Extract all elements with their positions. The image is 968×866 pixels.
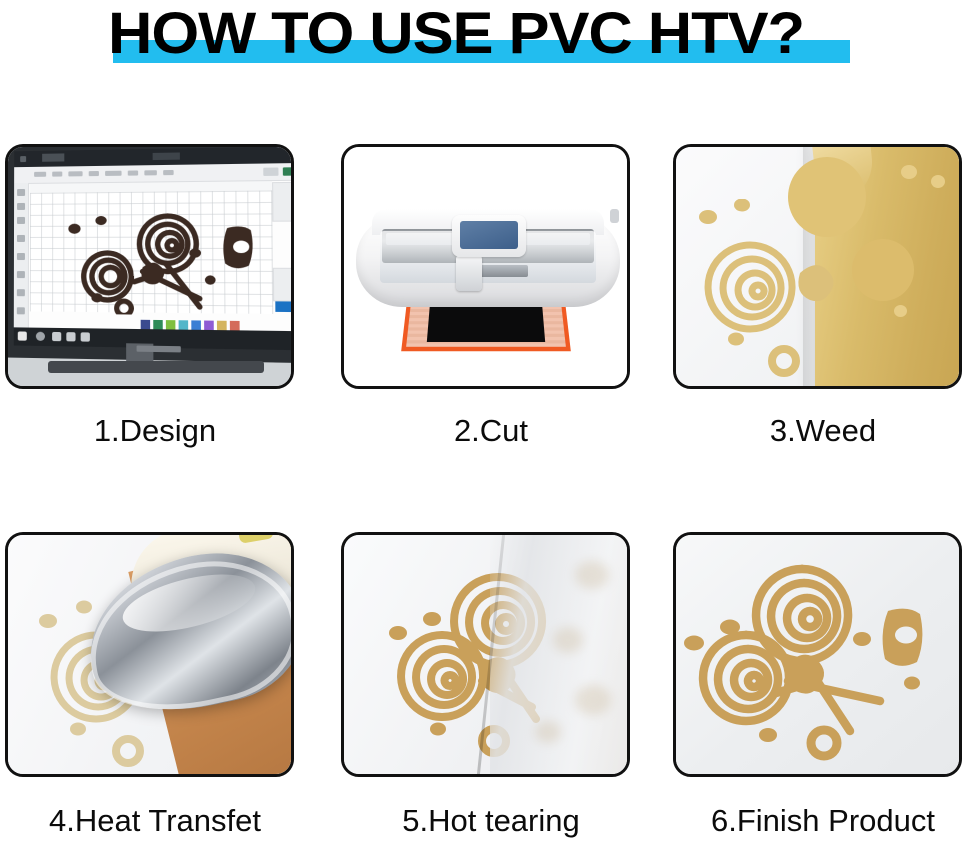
- step-card-1: 1.Design: [5, 144, 305, 449]
- step-image-4: [5, 532, 294, 777]
- step-caption-1: 1.Design: [5, 413, 305, 449]
- step-card-2: 2.Cut: [341, 144, 641, 449]
- step-image-6: [673, 532, 962, 777]
- step-caption-3: 3.Weed: [673, 413, 968, 449]
- scene-weeding-gold-vinyl: [676, 147, 959, 386]
- scene-iron-pressing-design: [8, 535, 291, 774]
- step-caption-2: 2.Cut: [341, 413, 641, 449]
- finished-design-artwork: [684, 553, 956, 765]
- step-caption-6: 6.Finish Product: [673, 803, 968, 839]
- step-caption-5: 5.Hot tearing: [341, 803, 641, 839]
- page-header: HOW TO USE PVC HTV?: [0, 0, 968, 96]
- step-image-3: [673, 144, 962, 389]
- step-card-5: 5.Hot tearing: [341, 532, 641, 839]
- step-image-1: [5, 144, 294, 389]
- step-card-3: 3.Weed: [673, 144, 968, 449]
- page-title: HOW TO USE PVC HTV?: [108, 3, 804, 65]
- step-caption-4: 4.Heat Transfet: [5, 803, 305, 839]
- step-card-6: 6.Finish Product: [673, 532, 968, 839]
- step-image-5: [341, 532, 630, 777]
- scene-vinyl-cutting-machine: [344, 147, 627, 386]
- scene-computer-monitor-design-software: [8, 147, 291, 386]
- weeded-design-artwork: [694, 199, 874, 379]
- scene-finished-transfer: [676, 535, 959, 774]
- step-card-4: 4.Heat Transfet: [5, 532, 305, 839]
- design-artwork-dark: [44, 199, 267, 316]
- step-image-2: [341, 144, 630, 389]
- scene-peeling-carrier-sheet-hot: [344, 535, 627, 774]
- steps-grid: 1.Design 2.Cut: [0, 96, 968, 866]
